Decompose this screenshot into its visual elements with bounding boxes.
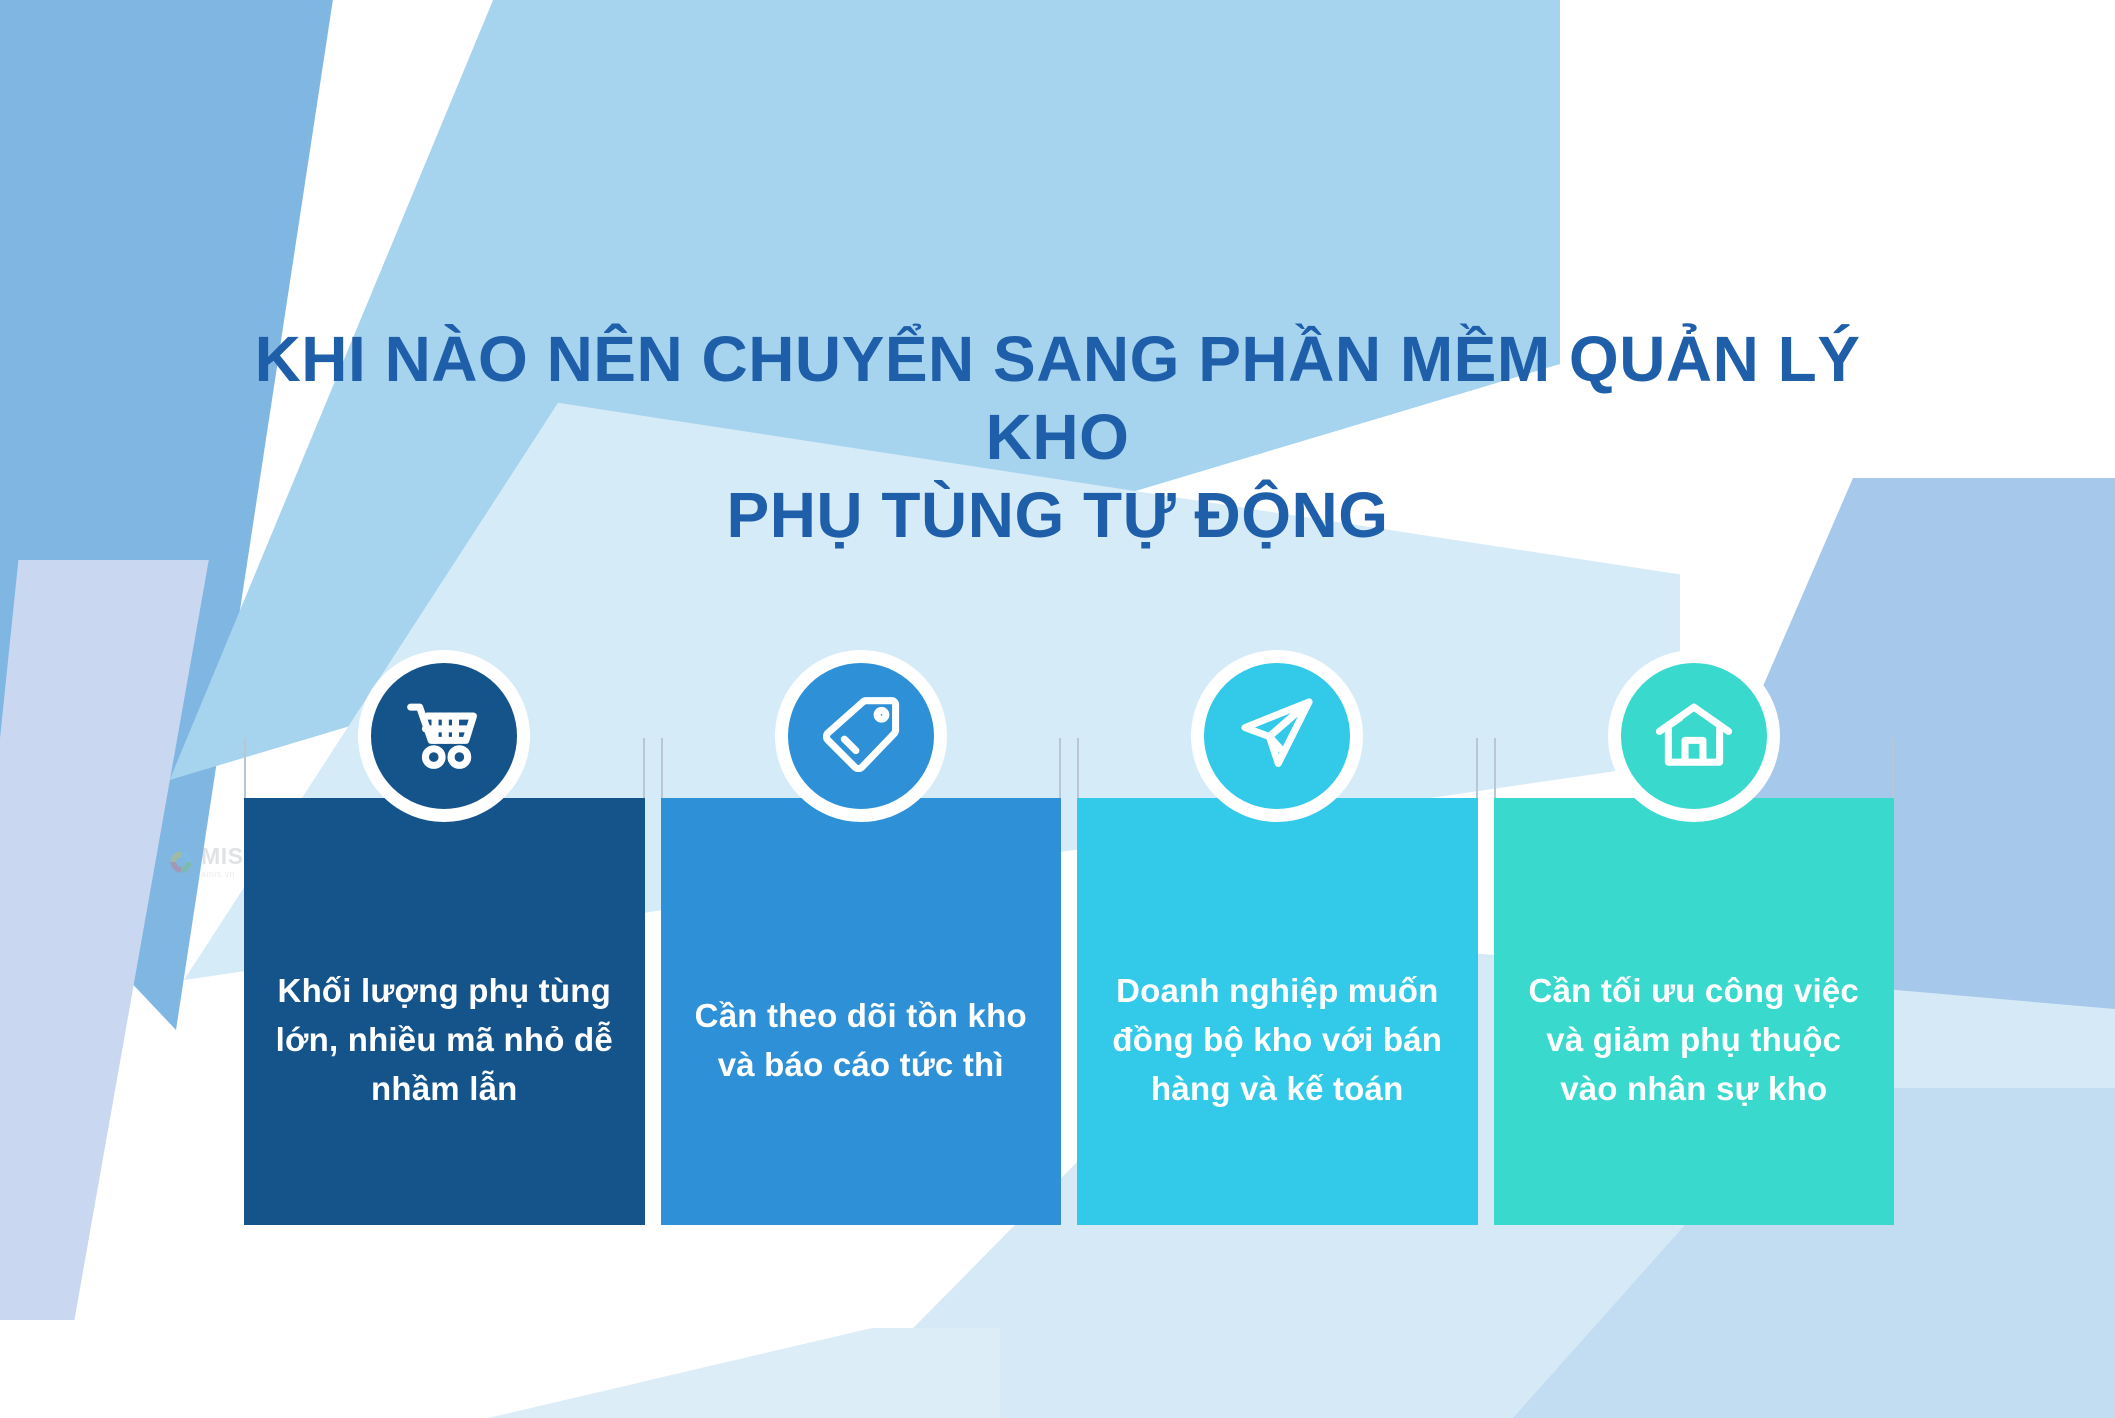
card-1-panel: Khối lượng phụ tùng lớn, nhiều mã nhỏ dễ… [244, 798, 645, 1225]
card-2-text: Cần theo dõi tồn kho và báo cáo tức thì [687, 992, 1036, 1090]
shopping-cart-icon-badge [358, 650, 530, 822]
card-2[interactable]: Cần theo dõi tồn kho và báo cáo tức thì [661, 650, 1062, 1225]
card-row: Khối lượng phụ tùng lớn, nhiều mã nhỏ dễ… [244, 650, 1894, 1225]
card-2-panel: Cần theo dõi tồn kho và báo cáo tức thì [661, 798, 1062, 1225]
bg-shape-bottom-left-pale [360, 1328, 1000, 1418]
infographic-slide: KHI NÀO NÊN CHUYỂN SANG PHẦN MỀM QUẢN LÝ… [0, 0, 2115, 1418]
card-4-rule-right [1892, 738, 1894, 800]
page-title-line-1: KHI NÀO NÊN CHUYỂN SANG PHẦN MỀM QUẢN LÝ… [180, 320, 1935, 476]
card-3-rule-right [1476, 738, 1478, 800]
card-2-rule-right [1059, 738, 1061, 800]
card-3-rule-left [1077, 738, 1079, 800]
shopping-cart-icon [403, 693, 485, 780]
card-4-panel: Cần tối ưu công việc và giảm phụ thuộc v… [1494, 798, 1895, 1225]
card-4-text: Cần tối ưu công việc và giảm phụ thuộc v… [1520, 967, 1869, 1113]
paper-plane-icon [1236, 693, 1318, 780]
page-title: KHI NÀO NÊN CHUYỂN SANG PHẦN MỀM QUẢN LÝ… [0, 320, 2115, 554]
card-3-panel: Doanh nghiệp muốn đồng bộ kho với bán hà… [1077, 798, 1478, 1225]
price-tag-icon-badge [775, 650, 947, 822]
card-1-rule-left [244, 738, 246, 800]
card-4-rule-left [1494, 738, 1496, 800]
house-icon [1653, 693, 1735, 780]
card-1-text: Khối lượng phụ tùng lớn, nhiều mã nhỏ dễ… [270, 967, 619, 1113]
card-4[interactable]: Cần tối ưu công việc và giảm phụ thuộc v… [1494, 650, 1895, 1225]
misa-logo-icon [168, 849, 194, 875]
price-tag-icon [820, 693, 902, 780]
card-1-rule-right [643, 738, 645, 800]
card-3[interactable]: Doanh nghiệp muốn đồng bộ kho với bán hà… [1077, 650, 1478, 1225]
card-2-rule-left [661, 738, 663, 800]
card-1[interactable]: Khối lượng phụ tùng lớn, nhiều mã nhỏ dễ… [244, 650, 645, 1225]
page-title-line-2: PHỤ TÙNG TỰ ĐỘNG [180, 476, 1935, 554]
card-3-text: Doanh nghiệp muốn đồng bộ kho với bán hà… [1103, 967, 1452, 1113]
paper-plane-icon-badge [1191, 650, 1363, 822]
house-icon-badge [1608, 650, 1780, 822]
